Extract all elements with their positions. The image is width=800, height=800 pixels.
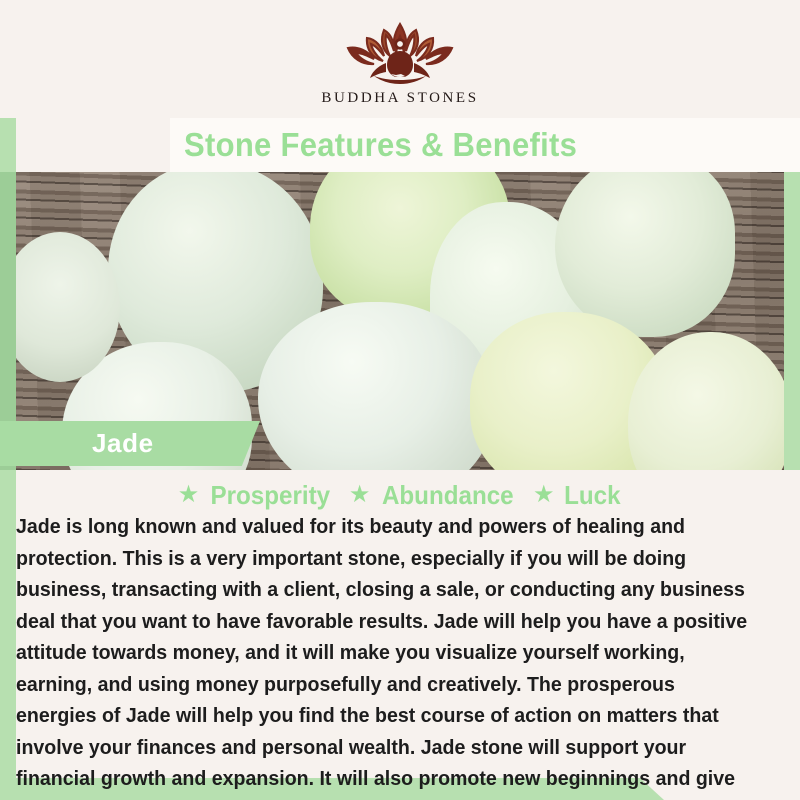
star-icon: ★: [178, 483, 200, 507]
benefit-item: ★ Prosperity: [178, 480, 335, 511]
star-icon: ★: [349, 483, 371, 507]
brand-name: BUDDHA STONES: [321, 90, 478, 107]
stone-name-badge: Jade: [0, 421, 260, 466]
stone-description: Jade is long known and valued for its be…: [16, 511, 753, 800]
benefit-label: Abundance: [382, 480, 514, 511]
benefit-label: Prosperity: [211, 480, 331, 511]
lotus-meditation-logo-icon: [334, 18, 466, 86]
brand-header: BUDDHA STONES: [0, 0, 800, 118]
stone-name-label: Jade: [92, 428, 154, 459]
page-title: Stone Features & Benefits: [184, 126, 577, 164]
benefit-item: ★ Abundance: [349, 480, 519, 511]
stone-item: [0, 232, 120, 382]
benefit-item: ★ Luck: [533, 480, 622, 511]
title-banner: Stone Features & Benefits: [170, 118, 800, 172]
stone-info-poster: BUDDHA STONES Stone Features & Benefits …: [0, 0, 800, 800]
benefits-row: ★ Prosperity ★ Abundance ★ Luck: [0, 478, 800, 512]
benefit-label: Luck: [564, 480, 620, 511]
star-icon: ★: [533, 483, 555, 507]
